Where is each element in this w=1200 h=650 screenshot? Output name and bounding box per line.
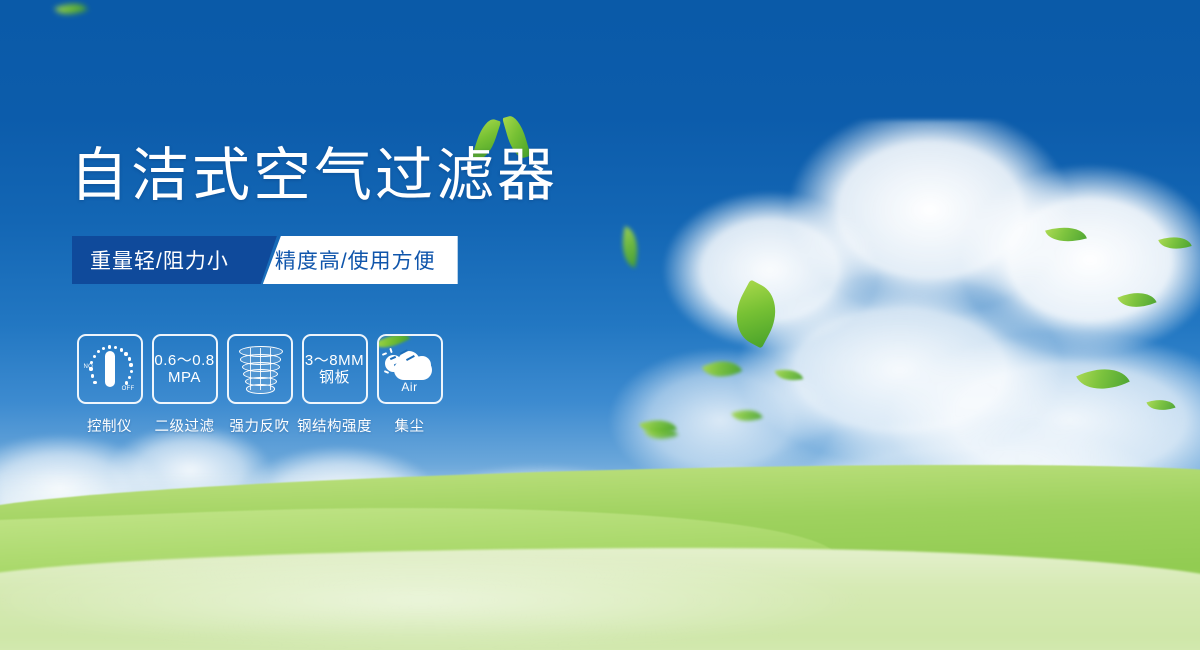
dial-off-label: OFF — [122, 386, 135, 392]
filter-cartridge-icon — [234, 342, 286, 396]
pressure-value-line1: 0.6～0.8 — [154, 352, 214, 369]
dial-switch-bar — [105, 351, 115, 387]
control-dial-icon: NO OFF — [84, 342, 136, 396]
feature-label: 集尘 — [395, 415, 425, 436]
feature-item-control[interactable]: NO OFF — [72, 334, 147, 436]
feature-label: 控制仪 — [87, 415, 132, 436]
feature-icon-box — [227, 334, 293, 404]
steel-value-line1: 3～8MM — [305, 352, 364, 369]
feature-icon-box: 3～8MM 钢板 — [302, 334, 368, 404]
subtitle-left-text: 重量轻/阻力小 — [72, 236, 251, 284]
feature-icon-box: Air — [377, 334, 443, 404]
feature-item-steel[interactable]: 3～8MM 钢板 钢结构强度 — [297, 334, 372, 436]
page-title: 自洁式空气过滤器 — [70, 146, 558, 204]
cloud-air-icon: Air — [382, 346, 438, 392]
feature-label: 二级过滤 — [155, 415, 215, 436]
air-label: Air — [382, 380, 438, 394]
pressure-value-line2: MPA — [168, 369, 201, 386]
feature-icon-box: 0.6～0.8 MPA — [152, 334, 218, 404]
feature-item-blowback[interactable]: 强力反吹 — [222, 334, 297, 436]
product-hero-banner: 自洁式空气过滤器 重量轻/阻力小 精度高/使用方便 NO OFF — [0, 0, 1200, 650]
feature-list: NO OFF — [72, 334, 447, 436]
feature-icon-box: NO OFF — [77, 334, 143, 404]
subtitle-right-text: 精度高/使用方便 — [263, 236, 458, 284]
cloud-body — [394, 360, 432, 380]
feature-label: 强力反吹 — [230, 415, 290, 436]
feature-item-dustcollect[interactable]: Air 集尘 — [372, 334, 447, 436]
feature-item-pressure[interactable]: 0.6～0.8 MPA 二级过滤 — [147, 334, 222, 436]
steel-value-line2: 钢板 — [319, 369, 350, 386]
feature-label: 钢结构强度 — [297, 415, 372, 436]
subtitle-bar: 重量轻/阻力小 精度高/使用方便 — [72, 236, 458, 284]
